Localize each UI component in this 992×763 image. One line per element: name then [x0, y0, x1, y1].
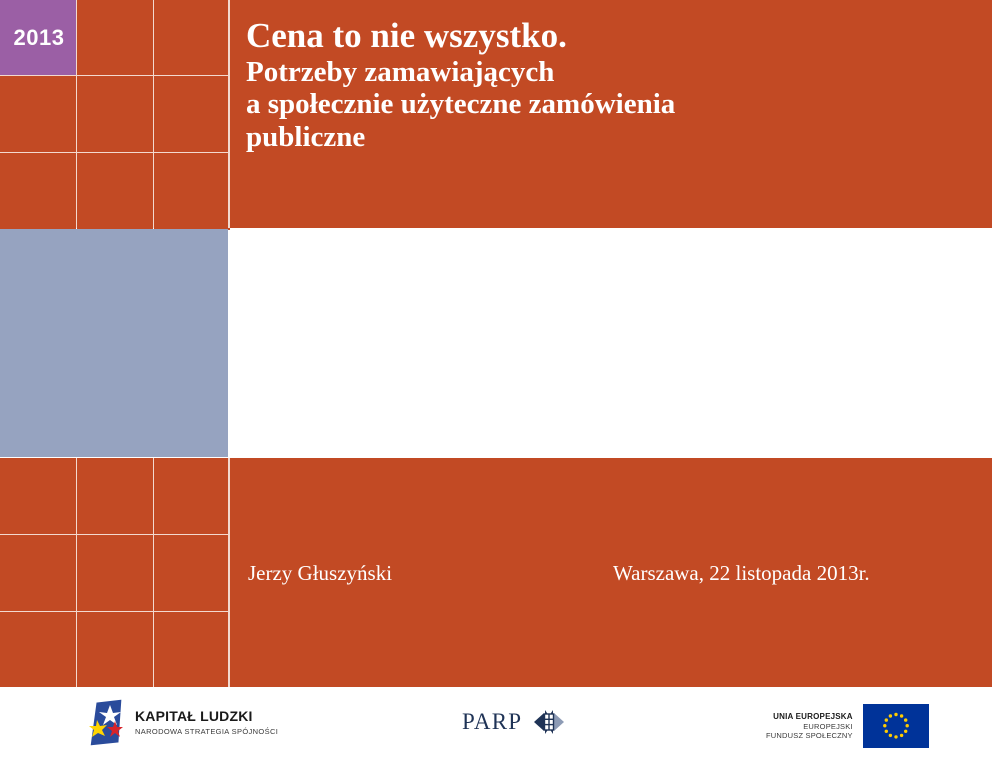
kapital-ludzki-subtitle: NARODOWA STRATEGIA SPÓJNOŚCI — [135, 728, 278, 736]
byline: Jerzy Głuszyński Warszawa, 22 listopada … — [248, 561, 948, 591]
grid-cell — [77, 153, 153, 230]
grid-cell — [154, 0, 230, 75]
presentation-title-slide: 2013 Cena to nie wszystko. Potrzeby zama… — [0, 0, 992, 763]
parp-wordmark: PARP — [462, 709, 522, 735]
title-line-2: Potrzeby zamawiających — [246, 56, 976, 89]
parp-diamond-icon — [522, 706, 568, 738]
title-line-4: publiczne — [246, 121, 976, 154]
grid-cell — [154, 535, 230, 611]
grid-cell — [0, 458, 76, 534]
grid-cell — [77, 612, 153, 689]
decorative-grid-bottom-left — [0, 458, 228, 687]
grid-cell — [0, 612, 76, 689]
grid-cell — [154, 153, 230, 230]
decorative-blue-block — [0, 229, 228, 457]
grid-cell — [0, 153, 76, 230]
title-line-3: a społecznie użyteczne zamówienia — [246, 88, 976, 121]
title-line-1: Cena to nie wszystko. — [246, 16, 976, 56]
grid-cell — [0, 535, 76, 611]
grid-cell — [154, 76, 230, 152]
decorative-grid-top-left: 2013 — [0, 0, 228, 228]
author-name: Jerzy Głuszyński — [248, 561, 392, 586]
grid-cell — [0, 76, 76, 152]
grid-cell — [77, 535, 153, 611]
place-and-date: Warszawa, 22 listopada 2013r. — [613, 561, 870, 586]
unia-europejska-line-2: EUROPEJSKI — [766, 722, 853, 731]
kapital-ludzki-title: KAPITAŁ LUDZKI — [135, 708, 253, 724]
grid-cell — [77, 0, 153, 75]
grid-top-right-divider — [228, 0, 230, 228]
grid-cell — [154, 612, 230, 689]
grid-bottom-right-divider — [228, 458, 230, 687]
unia-europejska-text: UNIA EUROPEJSKA EUROPEJSKI FUNDUSZ SPOŁE… — [766, 712, 853, 741]
page-title: Cena to nie wszystko. Potrzeby zamawiają… — [246, 16, 976, 154]
unia-europejska-line-3: FUNDUSZ SPOŁECZNY — [766, 731, 853, 740]
kapital-ludzki-text: KAPITAŁ LUDZKI NARODOWA STRATEGIA SPÓJNO… — [135, 709, 278, 736]
year-badge-label: 2013 — [12, 27, 65, 49]
unia-europejska-line-1: UNIA EUROPEJSKA — [766, 712, 853, 722]
grid-cell — [77, 76, 153, 152]
grid-cell — [154, 458, 230, 534]
kapital-ludzki-logo: KAPITAŁ LUDZKI NARODOWA STRATEGIA SPÓJNO… — [88, 699, 278, 746]
year-badge: 2013 — [0, 0, 76, 75]
kapital-ludzki-mark-icon — [88, 699, 125, 746]
eu-flag-icon — [863, 704, 929, 748]
parp-logo: PARP — [462, 706, 568, 738]
grid-cell — [77, 458, 153, 534]
unia-europejska-logo: UNIA EUROPEJSKA EUROPEJSKI FUNDUSZ SPOŁE… — [766, 704, 929, 748]
